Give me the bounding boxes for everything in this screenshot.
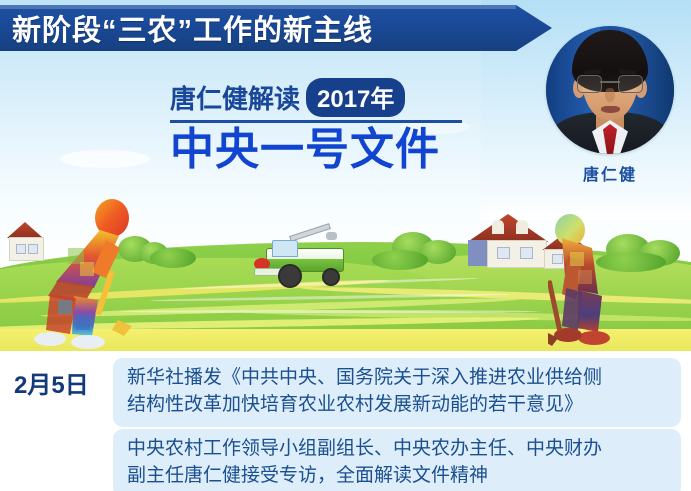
date-label: 2月5日 xyxy=(14,365,89,400)
portrait-block: 唐仁健 xyxy=(546,26,674,185)
title-block: 唐仁健解读 2017年 中央一号文件 xyxy=(170,78,470,173)
house-dormer xyxy=(516,220,528,234)
glasses-icon xyxy=(577,75,602,93)
farmer-left-figure xyxy=(14,196,162,351)
house-window xyxy=(520,247,533,259)
bush-icon xyxy=(372,250,428,270)
portrait-caption: 唐仁健 xyxy=(546,161,674,185)
avatar xyxy=(546,26,674,154)
mosaic-accent xyxy=(80,262,94,276)
mosaic-accent xyxy=(578,270,592,284)
house-dormer xyxy=(492,220,504,234)
cloud-icon xyxy=(60,150,150,168)
glasses-icon xyxy=(618,75,643,93)
hoe-blade xyxy=(112,320,132,336)
mosaic-accent xyxy=(58,300,72,314)
year-badge: 2017年 xyxy=(306,78,405,117)
hoe-handle xyxy=(548,280,562,332)
text-card-2: 中央农村工作领导小组副组长、中央农办主任、中央财办 副主任唐仁健接受专访，全面解… xyxy=(113,429,681,491)
title-first-line: 唐仁健解读 2017年 xyxy=(170,78,470,116)
page-title: 中央一号文件 xyxy=(170,128,470,173)
infographic-poster: 新阶段“三农”工作的新主线 唐仁健 唐仁健解 xyxy=(0,0,691,491)
mosaic-accent xyxy=(76,314,90,330)
glasses-bridge xyxy=(600,81,620,83)
harvester-wheel xyxy=(278,264,302,288)
harvester-icon xyxy=(252,234,356,286)
text-card-1-line-2: 结构性改革加快培育农业农村发展新动能的若干意见》 xyxy=(127,392,667,419)
farmer-shoe xyxy=(71,335,105,349)
text-card-2-line-1: 中央农村工作领导小组副组长、中央农办主任、中央财办 xyxy=(127,436,667,463)
portrait-nose xyxy=(605,88,615,102)
house-wall-side xyxy=(468,240,488,266)
harvester-spout xyxy=(326,232,337,240)
mosaic-accent xyxy=(68,248,84,264)
text-card-1-line-1: 新华社播发《中共中央、国务院关于深入推进农业供给侧 xyxy=(127,365,667,392)
mosaic-accent xyxy=(570,252,584,266)
portrait-mouth xyxy=(601,106,620,113)
title-divider xyxy=(170,120,462,123)
harvester-wheel xyxy=(322,268,340,286)
text-card-1: 新华社播发《中共中央、国务院关于深入推进农业供给侧 结构性改革加快培育农业农村发… xyxy=(113,358,681,427)
house-window xyxy=(497,247,510,259)
farmer-shoe xyxy=(578,331,610,345)
banner-title: 新阶段“三农”工作的新主线 xyxy=(12,7,373,49)
field-furrow xyxy=(120,310,540,313)
farmer-right-figure xyxy=(548,208,658,351)
farmer-shoe xyxy=(34,332,66,346)
bottom-section: 2月5日 新华社播发《中共中央、国务院关于深入推进农业供给侧 结构性改革加快培育… xyxy=(0,351,691,491)
text-card-2-line-2: 副主任唐仁健接受专访，全面解读文件精神 xyxy=(127,463,667,490)
harvester-cab xyxy=(272,240,298,257)
header-banner: 新阶段“三农”工作的新主线 xyxy=(0,5,552,51)
title-kicker: 唐仁健解读 xyxy=(170,79,300,116)
farmer-leg-front xyxy=(578,290,602,332)
